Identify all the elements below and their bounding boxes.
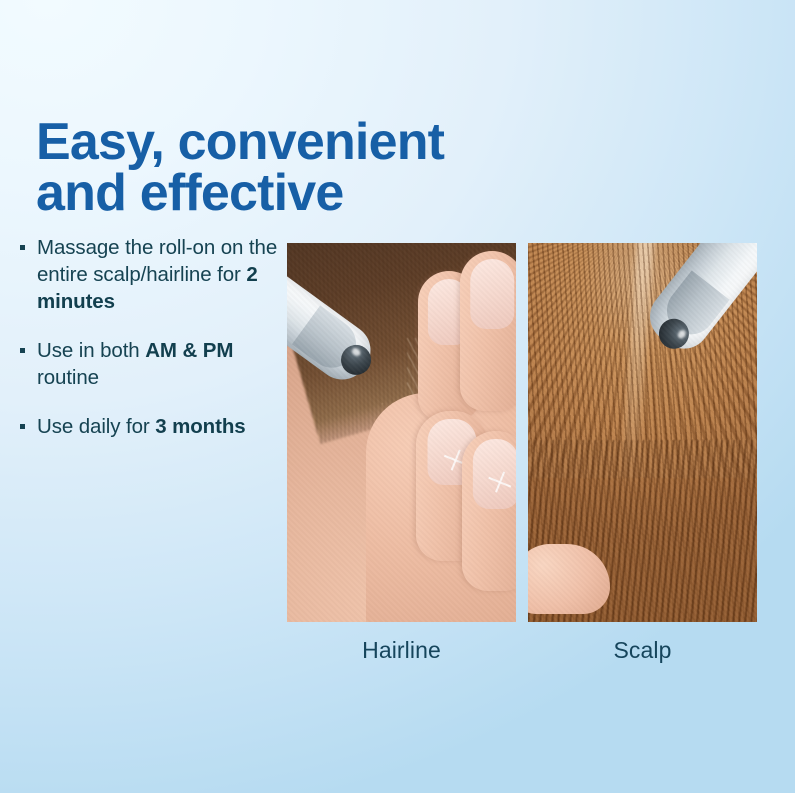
list-item-text: Massage the roll-on on the entire scalp/…	[37, 236, 277, 313]
fingernail	[473, 439, 516, 509]
promo-card: Easy, convenient and effective Massage t…	[0, 0, 795, 793]
photo-hairline: vise™	[287, 243, 516, 622]
list-item-text: Use daily for 3 months	[37, 415, 246, 438]
bullet-square-icon	[20, 424, 25, 429]
instruction-list: Massage the roll-on on the entire scalp/…	[18, 234, 286, 440]
bullet-square-icon	[20, 348, 25, 353]
hand	[376, 243, 516, 622]
list-item: Use in both AM & PM routine	[18, 337, 286, 391]
page-title: Easy, convenient and effective	[36, 117, 556, 219]
headline-line-1: Easy, convenient	[36, 117, 556, 168]
fingernail	[470, 259, 514, 329]
finger	[460, 251, 516, 411]
caption-scalp: Scalp	[528, 637, 757, 664]
bullet-square-icon	[20, 245, 25, 250]
list-item-text: Use in both AM & PM routine	[37, 339, 233, 389]
finger	[462, 431, 516, 591]
list-item: Use daily for 3 months	[18, 413, 286, 440]
list-item: Massage the roll-on on the entire scalp/…	[18, 234, 286, 315]
photo-scalp	[528, 243, 757, 622]
caption-hairline: Hairline	[287, 637, 516, 664]
sparkle-icon	[487, 469, 513, 495]
headline-line-2: and effective	[36, 168, 556, 219]
